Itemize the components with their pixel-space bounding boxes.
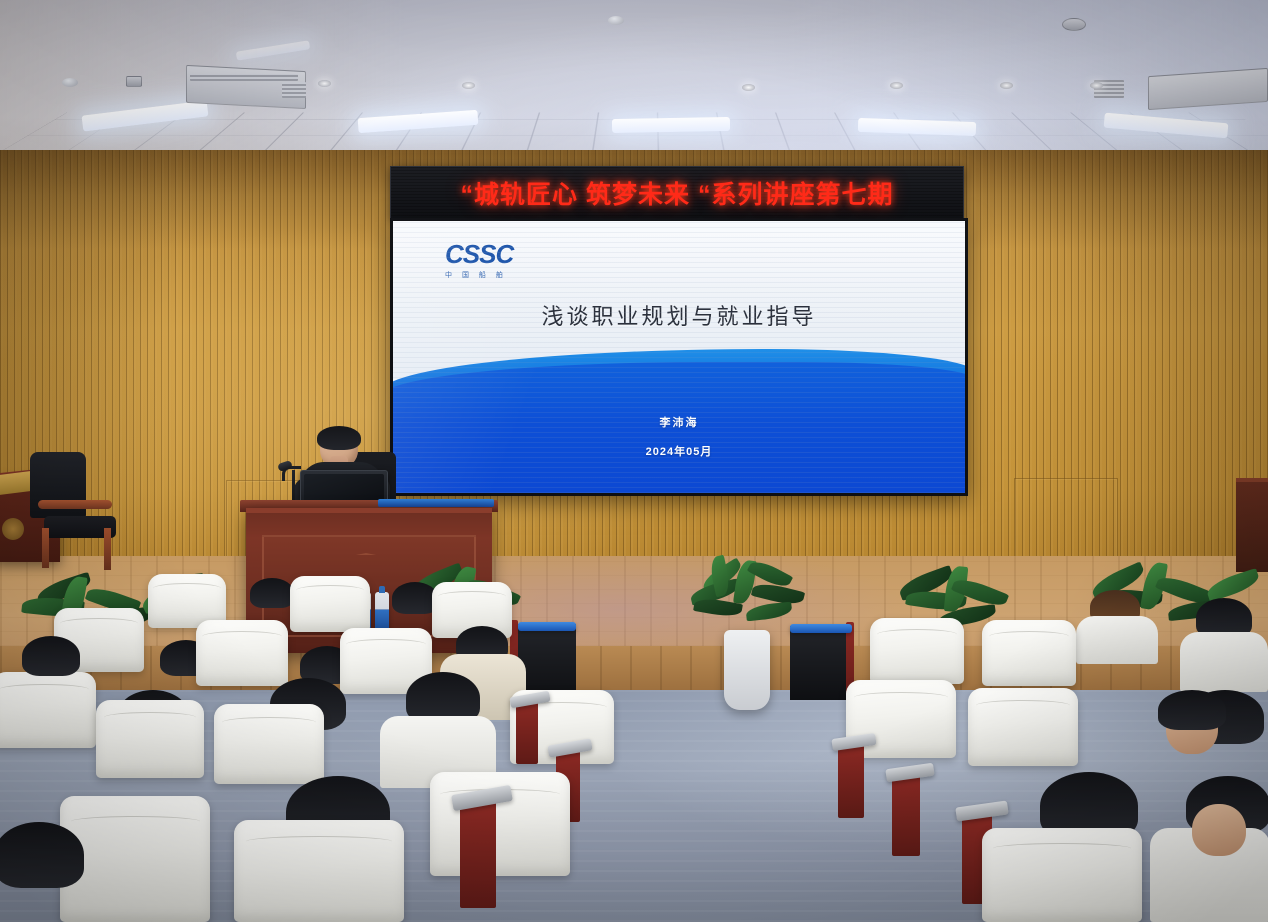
side-cabinet xyxy=(1236,478,1268,572)
ac-vent-louvers xyxy=(190,74,298,81)
audience-hair xyxy=(22,636,80,676)
stage-chair-armrest xyxy=(38,500,112,509)
recessed-downlight xyxy=(462,82,475,89)
front-desk-blue-strip xyxy=(790,624,852,633)
seat-frame xyxy=(516,700,538,764)
recessed-downlight xyxy=(1090,82,1103,89)
seat[interactable] xyxy=(196,620,288,686)
led-banner: “城轨匠心 筑梦未来 “系列讲座第七期 xyxy=(390,166,964,220)
audience-head xyxy=(1192,804,1246,856)
recessed-downlight xyxy=(742,84,755,91)
presentation-screen: CSSC 中 国 船 舶 浅谈职业规划与就业指导 李沛海 2024年05月 xyxy=(390,218,968,496)
ac-vent-louvers xyxy=(282,82,306,98)
podium-blue-strip xyxy=(378,499,494,507)
led-banner-text: “城轨匠心 筑梦未来 “系列讲座第七期 xyxy=(461,175,894,211)
smoke-detector xyxy=(62,78,78,87)
ceiling xyxy=(0,0,1268,168)
seat-frame xyxy=(838,742,864,818)
seat[interactable] xyxy=(968,688,1078,766)
seat-frame xyxy=(892,772,920,856)
seat[interactable] xyxy=(870,618,964,684)
seat[interactable] xyxy=(982,620,1076,686)
seat[interactable] xyxy=(0,672,96,748)
audience-hair xyxy=(250,578,294,608)
lecture-hall-photo: “城轨匠心 筑梦未来 “系列讲座第七期 CSSC 中 国 船 舶 浅谈职业规划与… xyxy=(0,0,1268,922)
recessed-downlight xyxy=(1000,82,1013,89)
seat[interactable] xyxy=(234,820,404,922)
stage-chair-leg xyxy=(42,528,49,568)
recessed-downlight xyxy=(318,80,331,87)
seat-frame xyxy=(460,798,496,908)
seat[interactable] xyxy=(214,704,324,784)
side-lectern-emblem xyxy=(2,518,24,540)
potted-plant-pot xyxy=(724,630,770,710)
seat[interactable] xyxy=(982,828,1142,922)
audience-hair xyxy=(1158,690,1226,730)
recessed-downlight xyxy=(890,82,903,89)
audience-shirt xyxy=(1180,632,1268,692)
front-desk-blue-strip xyxy=(518,622,576,631)
presenter-hair xyxy=(317,426,361,450)
front-desk-dark-panel xyxy=(790,626,854,700)
stage-chair-leg xyxy=(104,528,111,570)
water-bottle-label xyxy=(375,609,389,629)
audience-shirt xyxy=(1076,616,1158,664)
audience-hair xyxy=(0,822,84,888)
ceiling-speaker xyxy=(126,76,142,87)
slide-scanline-overlay xyxy=(393,221,965,493)
fluorescent-panel-light xyxy=(612,117,730,133)
seat[interactable] xyxy=(290,576,370,632)
smoke-detector xyxy=(608,16,624,25)
seat[interactable] xyxy=(96,700,204,778)
ceiling-speaker xyxy=(1062,18,1086,31)
slide: CSSC 中 国 船 舶 浅谈职业规划与就业指导 李沛海 2024年05月 xyxy=(393,221,965,493)
